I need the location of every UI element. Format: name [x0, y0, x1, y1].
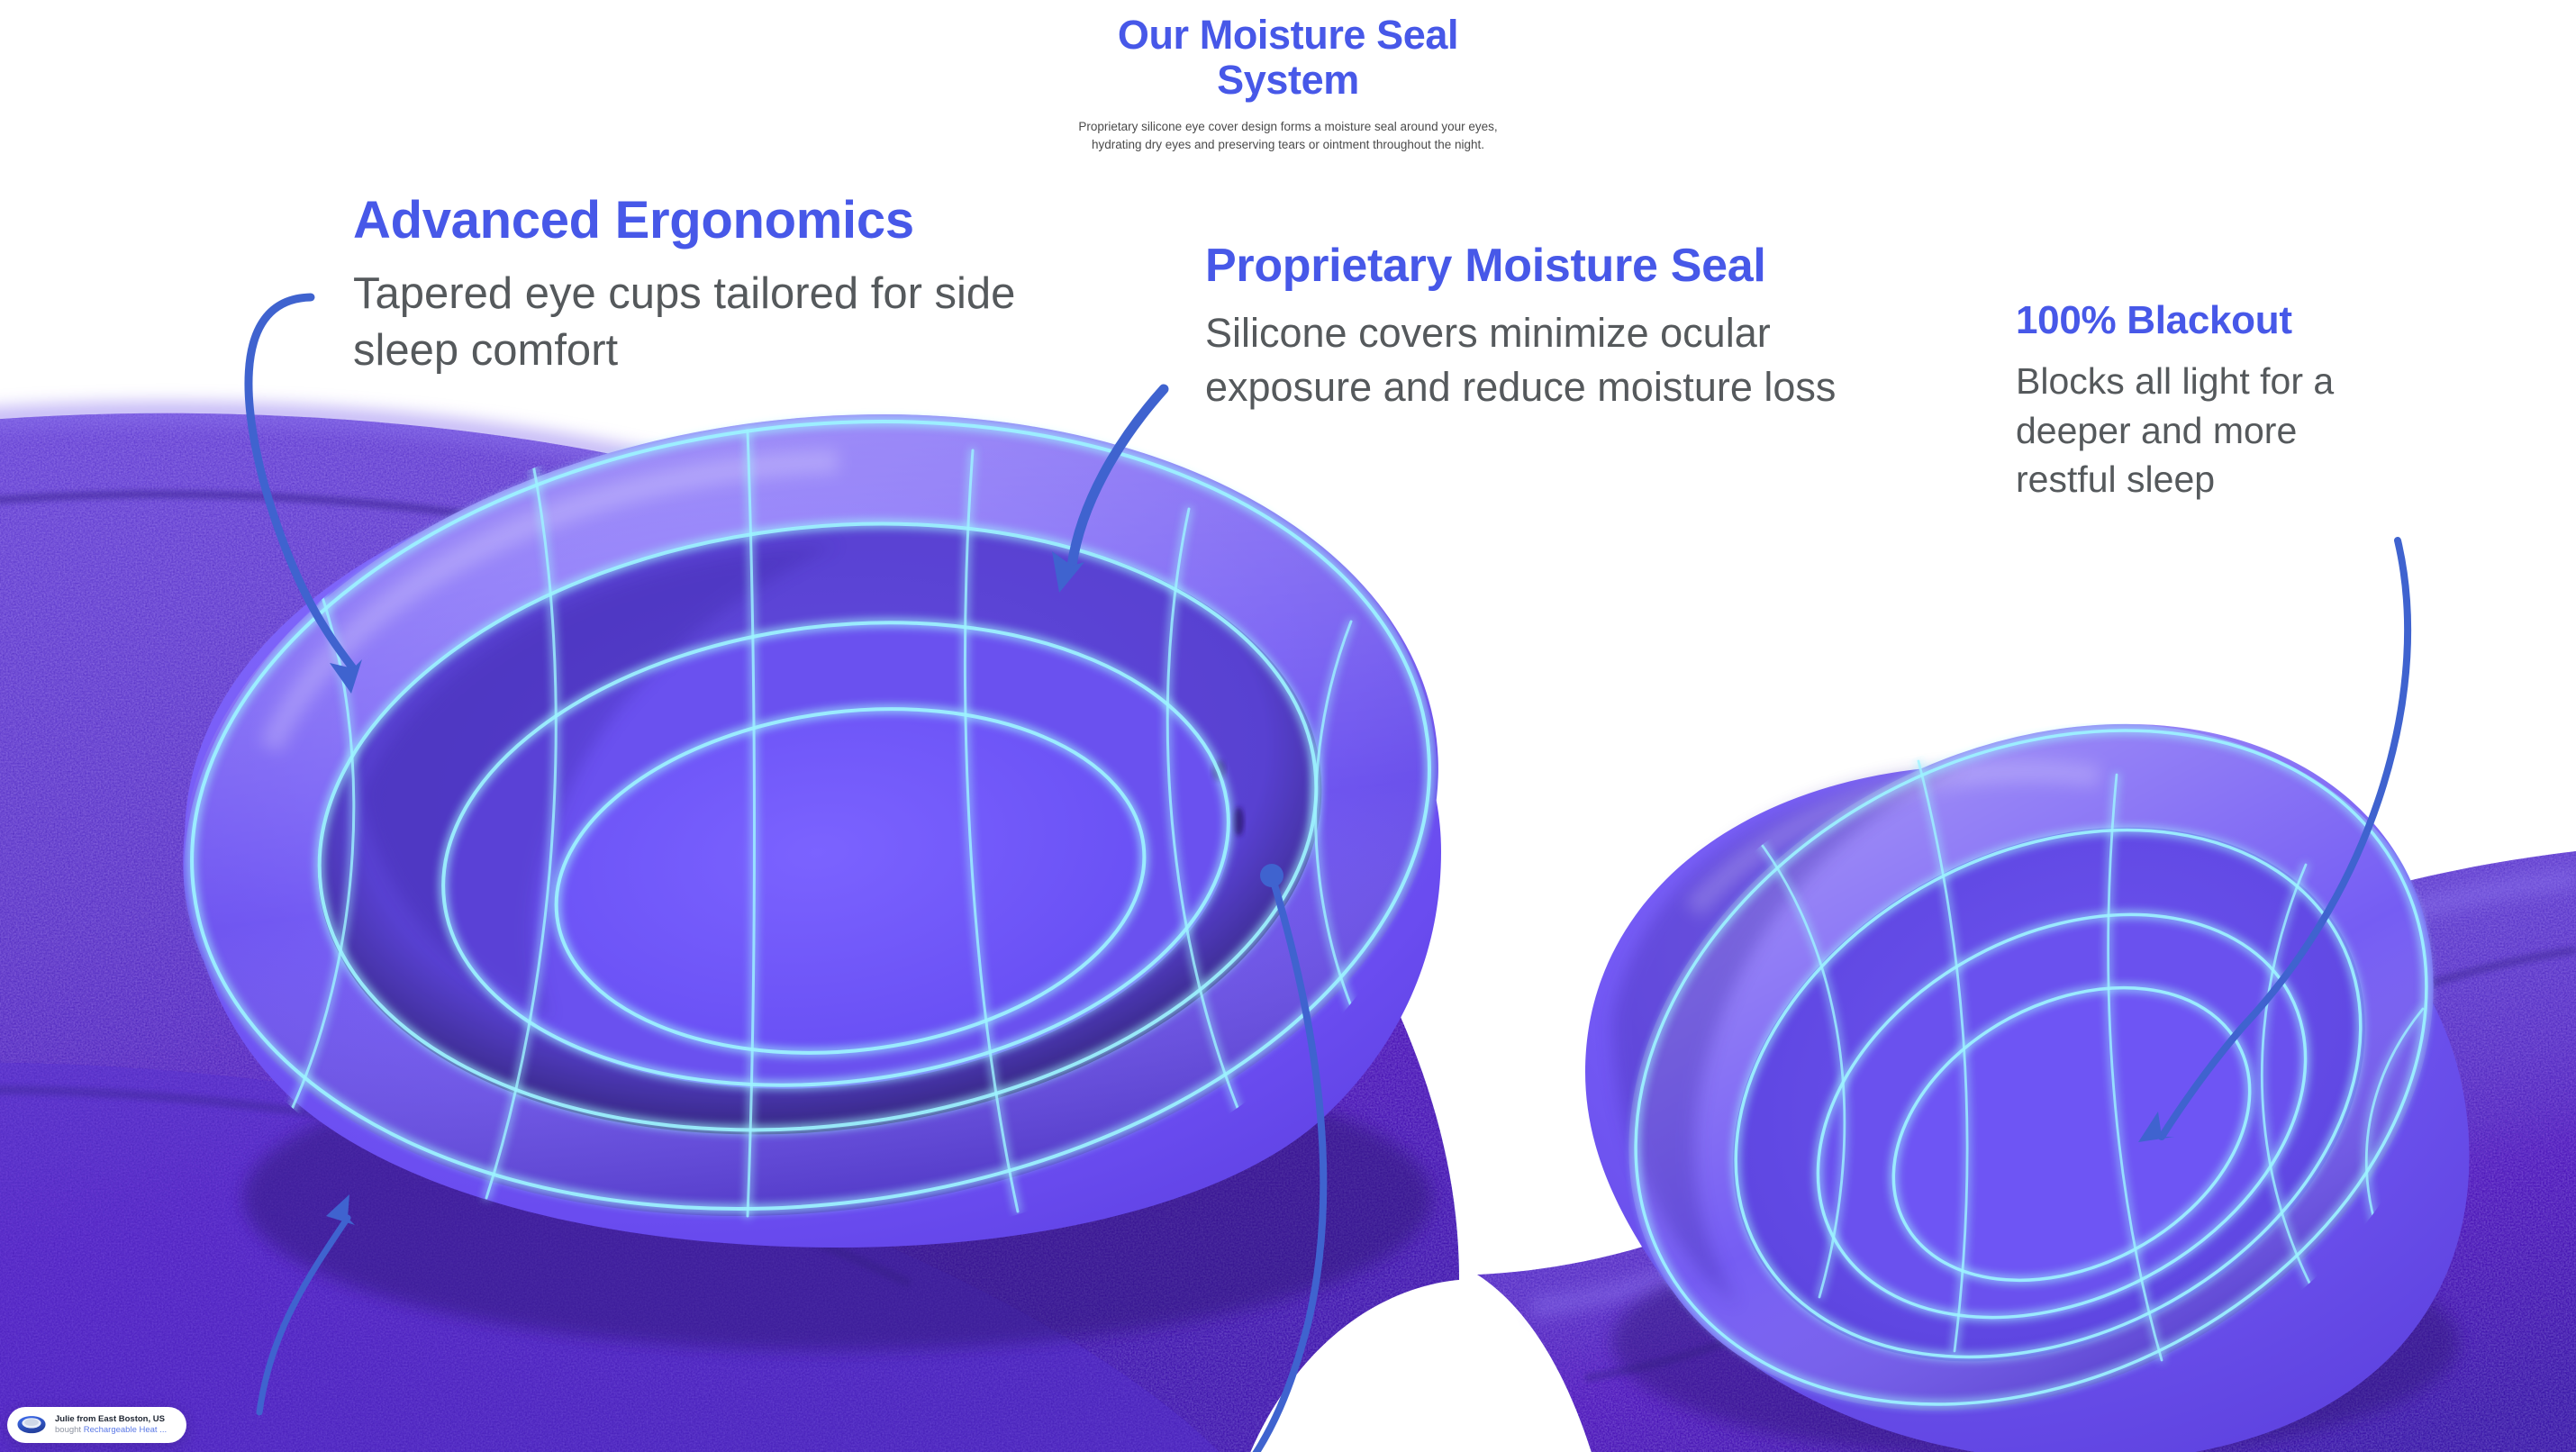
toast-action-prefix: bought	[55, 1425, 84, 1435]
moisture-seal-infographic: Our Moisture Seal System Proprietary sil…	[0, 0, 2576, 1452]
right-eye-cup	[1509, 589, 2553, 1452]
toast-product-link[interactable]: Rechargeable Heat ...	[84, 1425, 167, 1435]
right-cup-wireframe	[1518, 597, 2544, 1452]
toast-customer-name: Julie from East Boston, US	[55, 1414, 167, 1425]
page-title: Our Moisture Seal System	[1094, 13, 1482, 104]
feature-advanced-ergonomics: Advanced Ergonomics Tapered eye cups tai…	[353, 192, 1074, 378]
nose-bridge-notch	[1225, 1279, 1711, 1452]
feature-100-percent-blackout: 100% Blackout Blocks all light for a dee…	[2016, 299, 2520, 504]
feature-title-blackout: 100% Blackout	[2016, 299, 2520, 342]
sleep-mask-thumbnail-icon	[16, 1414, 47, 1436]
feature-title-seal: Proprietary Moisture Seal	[1205, 240, 1926, 292]
feature-proprietary-moisture-seal: Proprietary Moisture Seal Silicone cover…	[1205, 240, 1926, 414]
callout-arrow-blackout	[2138, 540, 2408, 1142]
callout-arrow-seal	[1052, 389, 1164, 593]
toast-action: bought Rechargeable Heat ...	[55, 1425, 167, 1436]
page-subtitle: Proprietary silicone eye cover design fo…	[1067, 118, 1509, 155]
left-eye-cup	[137, 345, 1485, 1351]
callout-arrow-strap	[259, 1194, 355, 1412]
callout-arrow-cup-down	[1252, 864, 1323, 1452]
feature-title-ergonomics: Advanced Ergonomics	[353, 192, 1074, 250]
feature-body-blackout: Blocks all light for a deeper and more r…	[2016, 357, 2394, 504]
feature-body-seal: Silicone covers minimize ocular exposure…	[1205, 306, 1872, 414]
header: Our Moisture Seal System Proprietary sil…	[0, 13, 2576, 154]
left-cup-wireframe	[146, 353, 1474, 1277]
social-proof-toast[interactable]: Julie from East Boston, US bought Rechar…	[7, 1407, 186, 1443]
feature-body-ergonomics: Tapered eye cups tailored for side sleep…	[353, 266, 1074, 378]
toast-text: Julie from East Boston, US bought Rechar…	[55, 1414, 167, 1436]
callout-arrow-ergonomics	[249, 297, 362, 694]
mask-left-strap	[0, 413, 1459, 1452]
mask-right-strap	[1477, 851, 2576, 1452]
